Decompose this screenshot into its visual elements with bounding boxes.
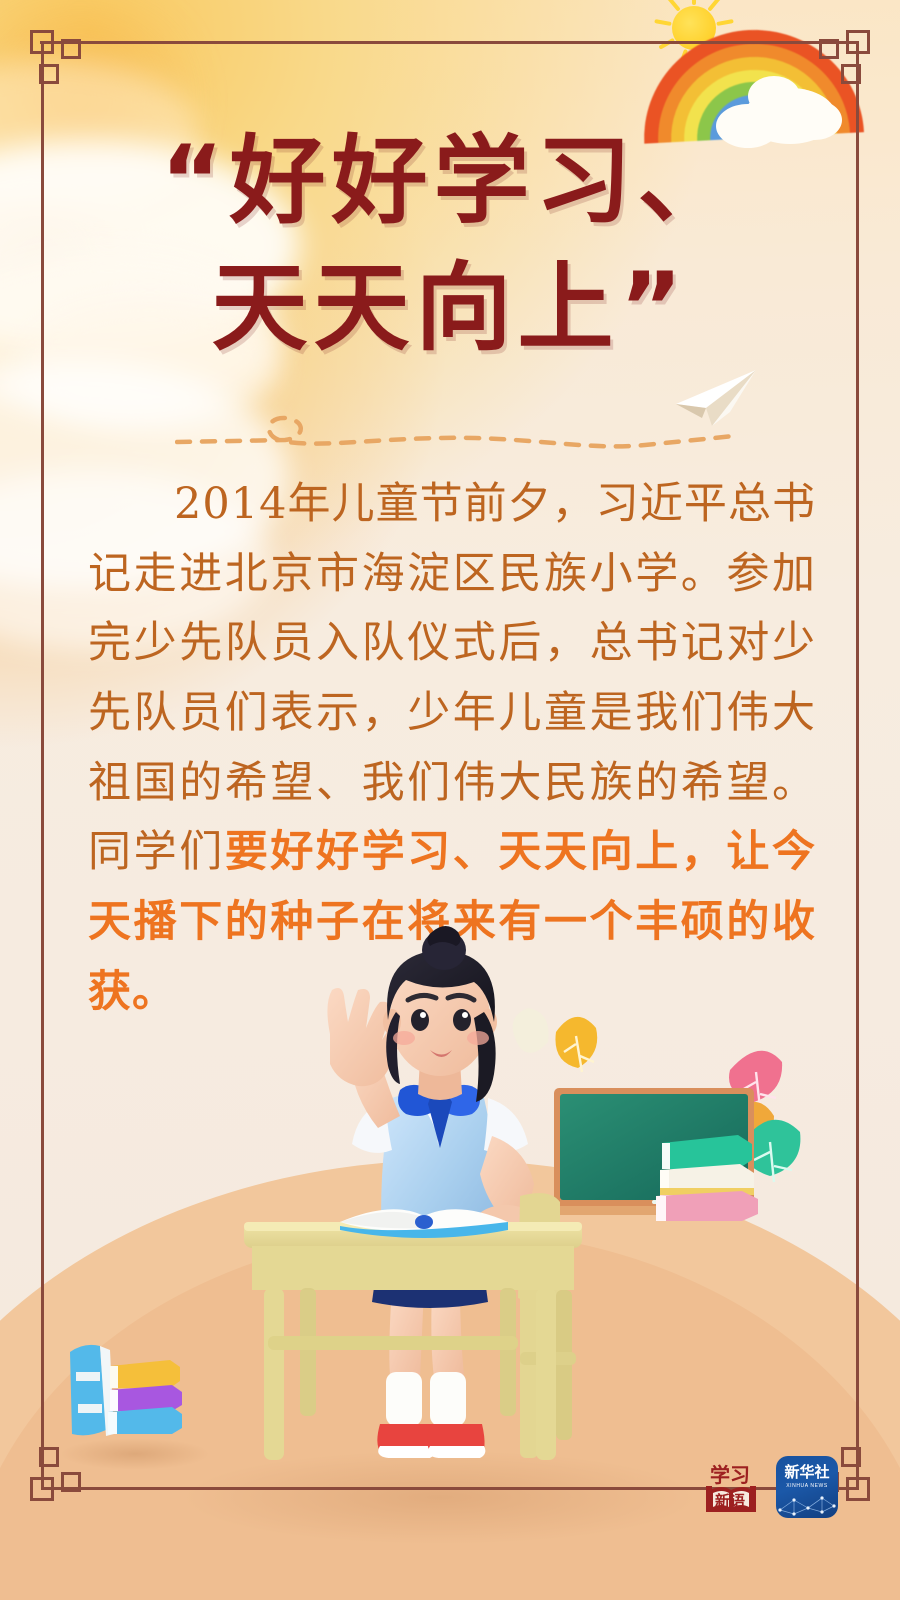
dashed-trail [175, 390, 735, 460]
frame-top-line [40, 41, 858, 44]
poster-title: “好好学习、 天天向上” [0, 118, 900, 371]
xinhua-news-logo: 新华社 XINHUA NEWS [776, 1456, 838, 1518]
body-text-plain: 2014年儿童节前夕，习近平总书记走进北京市海淀区民族小学。参加完少先队员入队仪… [88, 479, 816, 877]
floor-group [0, 1130, 900, 1600]
corner-ornament-top-right [808, 30, 870, 92]
corner-ornament-bottom-left [30, 1439, 92, 1501]
logo-group: 学习 新语 新华社 XINHUA NEWS [700, 1456, 838, 1518]
body-paragraph: 2014年儿童节前夕，习近平总书记走进北京市海淀区民族小学。参加完少先队员入队仪… [88, 470, 816, 1027]
xinhua-logo-cn: 新华社 [784, 1465, 829, 1480]
title-line-2: 天天向上” [0, 245, 900, 372]
svg-text:学习: 学习 [710, 1463, 750, 1487]
desk-ground-shadow [180, 1450, 700, 1545]
poster-root: “好好学习、 天天向上” 2014年儿童节前夕，习近平总书记走进北京市海淀区民族… [0, 0, 900, 1600]
svg-text:新语: 新语 [715, 1492, 745, 1510]
paper-plane-icon [672, 368, 758, 428]
title-line-1: “好好学习、 [0, 118, 900, 245]
corner-ornament-top-left [30, 30, 92, 92]
xuexi-xinyu-logo: 学习 新语 [700, 1456, 762, 1518]
